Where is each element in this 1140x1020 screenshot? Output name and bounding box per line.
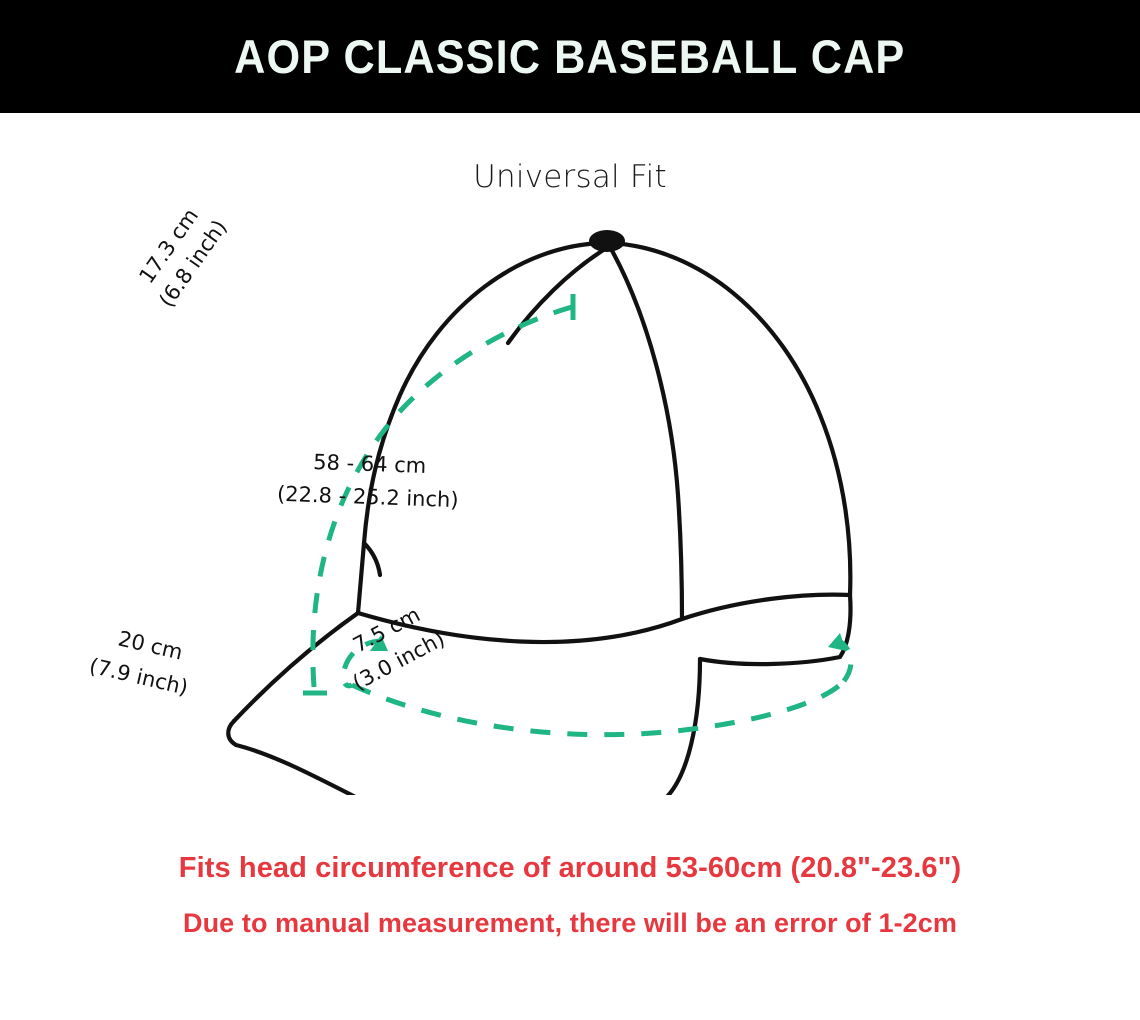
header-bar: AOP CLASSIC BASEBALL CAP [0, 0, 1140, 113]
cap-outline-group [228, 243, 850, 795]
cap-button-icon [589, 230, 625, 252]
crown-center-seam [610, 247, 682, 619]
brim-under-edge [236, 659, 700, 795]
brim-depth-label: 7.5 cm (3.0 inch) [333, 598, 448, 695]
brim-length-cm: 20 cm [116, 626, 185, 664]
brim-top-edge [234, 613, 358, 721]
brim-length-label: 20 cm (7.9 inch) [87, 622, 198, 700]
cap-diagram: 17.3 cm (6.8 inch) 58 - 64 cm (22.8 - 25… [0, 195, 1140, 795]
page-title: AOP CLASSIC BASEBALL CAP [234, 29, 905, 84]
circumference-inch: (22.8 - 25.2 inch) [277, 482, 459, 512]
dimension-arrowheads [370, 633, 846, 795]
dimension-lines-group [229, 294, 851, 795]
fit-note-primary: Fits head circumference of around 53-60c… [0, 852, 1140, 885]
brim-tip [228, 721, 236, 745]
fit-note-secondary: Due to manual measurement, there will be… [0, 908, 1140, 939]
subtitle-container: Universal Fit [0, 159, 1140, 195]
band-rear-edge [682, 595, 851, 664]
band-upper-line [364, 543, 380, 575]
band-front-edge [358, 543, 364, 613]
cap-diagram-svg: 17.3 cm (6.8 inch) 58 - 64 cm (22.8 - 25… [0, 195, 1140, 795]
circumference-dimension-front [352, 681, 844, 735]
circumference-cm: 58 - 64 cm [313, 450, 427, 478]
crown-height-label: 17.3 cm (6.8 inch) [130, 198, 232, 311]
circumference-label: 58 - 64 cm (22.8 - 25.2 inch) [277, 449, 460, 512]
fit-subtitle: Universal Fit [473, 159, 667, 195]
notes-container: Fits head circumference of around 53-60c… [0, 852, 1140, 939]
crown-back-silhouette [612, 243, 850, 595]
